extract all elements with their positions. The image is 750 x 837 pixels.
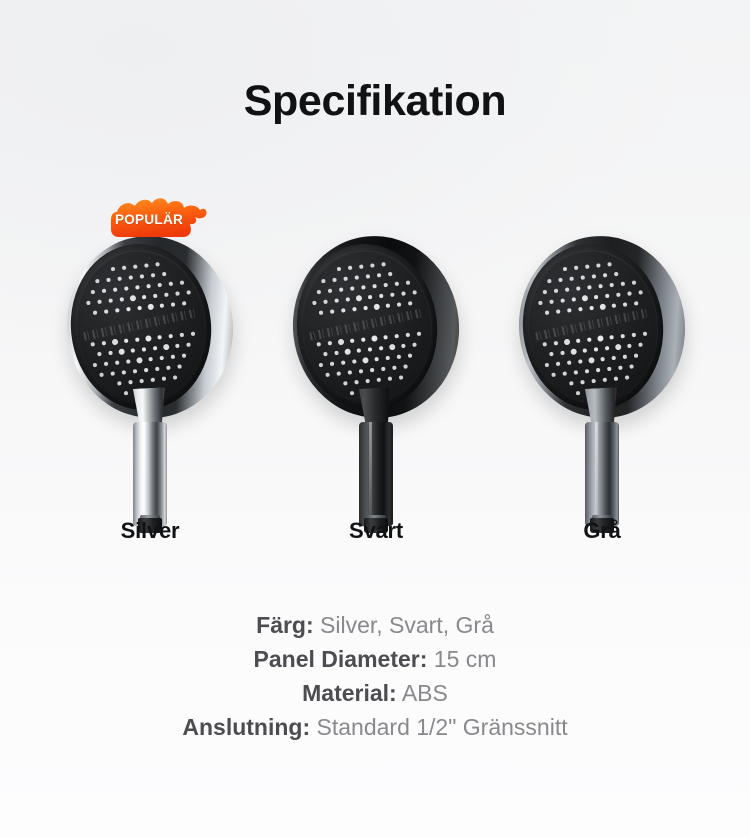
variant-label-black: Svart: [271, 518, 481, 544]
spec-key: Panel Diameter:: [254, 646, 428, 672]
spec-value: ABS: [402, 680, 448, 706]
variant-label-silver: Silver: [45, 518, 255, 544]
spec-value: Silver, Svart, Grå: [320, 612, 494, 638]
handle-sheen: [143, 422, 146, 526]
variant-label-gray: Grå: [497, 518, 707, 544]
shower-head-handle: [359, 422, 393, 526]
handle-sheen: [369, 422, 372, 526]
spec-row: Färg: Silver, Svart, Grå: [0, 608, 750, 642]
shower-head-icon-black: [271, 236, 481, 546]
spec-row: Panel Diameter: 15 cm: [0, 642, 750, 676]
popular-badge-label: POPULÄR: [105, 213, 193, 227]
popular-badge: POPULÄR: [105, 196, 209, 240]
shower-head-handle: [133, 422, 167, 526]
spec-key: Färg:: [256, 612, 314, 638]
shower-head-icon-silver: [45, 236, 255, 546]
shower-head-handle: [585, 422, 619, 526]
product-variant-silver[interactable]: POPULÄR Silver: [45, 196, 255, 546]
spec-row: Anslutning: Standard 1/2" Gränssnitt: [0, 710, 750, 744]
spec-key: Anslutning:: [182, 714, 310, 740]
handle-sheen: [595, 422, 598, 526]
product-variant-gray[interactable]: Grå: [497, 196, 707, 546]
spec-value: Standard 1/2" Gränssnitt: [317, 714, 568, 740]
product-variant-black[interactable]: Svart: [271, 196, 481, 546]
shower-head-icon-gray: [497, 236, 707, 546]
spec-row: Material: ABS: [0, 676, 750, 710]
spec-value: 15 cm: [434, 646, 497, 672]
product-variant-row: POPULÄR Silver: [0, 196, 750, 546]
specification-list: Färg: Silver, Svart, Grå Panel Diameter:…: [0, 608, 750, 744]
spec-key: Material:: [302, 680, 397, 706]
specification-page: Specifikation POPULÄR: [0, 0, 750, 837]
page-title: Specifikation: [0, 78, 750, 125]
